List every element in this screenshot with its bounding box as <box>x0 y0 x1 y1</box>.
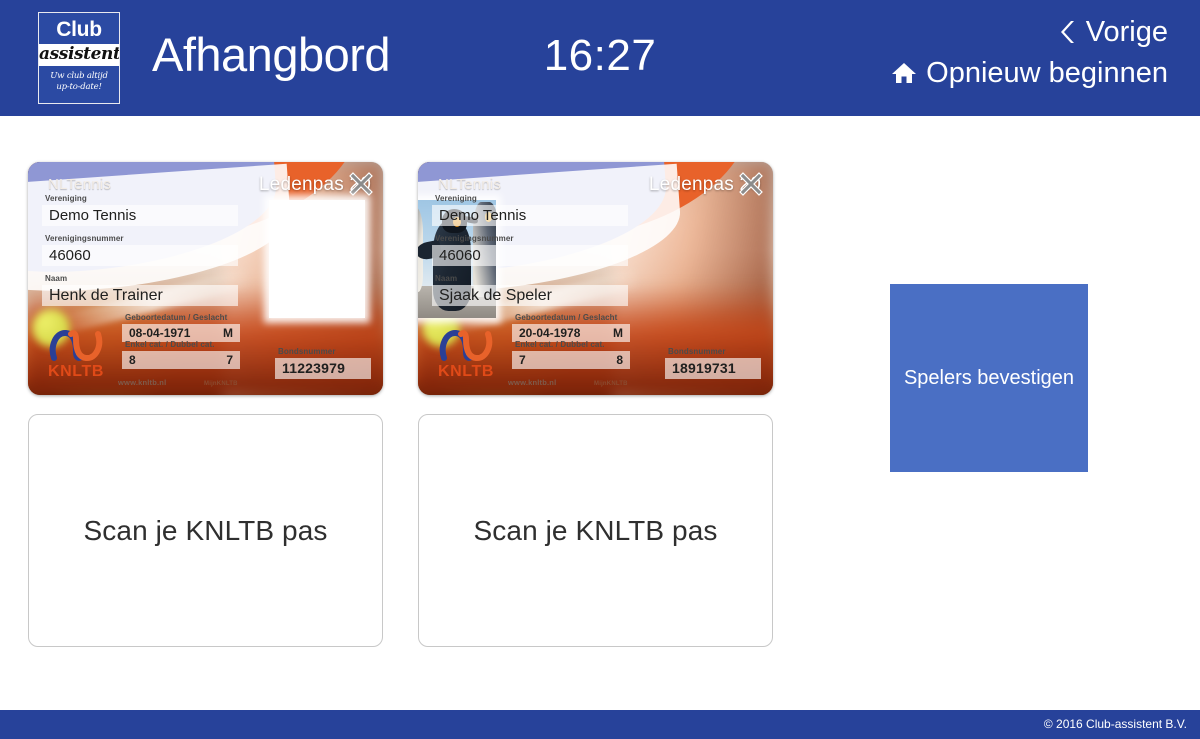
player-card[interactable]: NLTennis Ledenpas 20 Vereniging Demo Ten… <box>28 162 383 395</box>
field-naam-label: Naam <box>42 274 238 284</box>
mijn-knltb-label: MijnKNLTB <box>594 381 628 388</box>
copyright-text: © 2016 Club-assistent B.V. <box>1044 716 1187 732</box>
field-categorie: Enkel cat. / Dubbel cat. 7 8 <box>512 340 630 369</box>
scan-pass-label: Scan je KNLTB pas <box>84 515 328 547</box>
field-categorie: Enkel cat. / Dubbel cat. 8 7 <box>122 340 240 369</box>
field-verenigingsnummer: Verenigingsnummer 46060 <box>42 234 238 266</box>
card-url-text: www.knltb.nl <box>118 378 166 387</box>
field-vereniging-value: Demo Tennis <box>432 205 628 226</box>
back-button[interactable]: Vorige <box>891 14 1168 50</box>
field-geboortedatum-value: 08-04-1971 <box>129 325 190 341</box>
field-vereniging: Vereniging Demo Tennis <box>42 194 238 226</box>
field-vereniging-label: Vereniging <box>42 194 238 204</box>
player-card[interactable]: NLTennis Ledenpas 20 <box>418 162 773 395</box>
field-verenigingsnummer-label: Verenigingsnummer <box>432 234 628 244</box>
field-naam: Naam Henk de Trainer <box>42 274 238 306</box>
field-naam-value: Henk de Trainer <box>42 285 238 306</box>
field-vereniging-label: Vereniging <box>432 194 628 204</box>
card-brand-label: NLTennis <box>438 176 501 193</box>
app-header: Club assistent Uw club altijd up-to-date… <box>0 0 1200 116</box>
scan-pass-box[interactable]: Scan je KNLTB pas <box>418 414 773 647</box>
card-brand-label: NLTennis <box>48 176 111 193</box>
field-dubbel-cat-value: 8 <box>616 352 623 368</box>
knltb-logo-text: KNLTB <box>432 363 500 381</box>
knltb-logo: KNLTB <box>42 328 110 381</box>
field-bondsnummer: Bondsnummer 11223979 <box>275 347 371 379</box>
field-bondsnummer-value: 18919731 <box>665 358 761 379</box>
knltb-swirl-icon <box>438 328 494 362</box>
close-x-icon[interactable] <box>343 166 379 202</box>
member-photo-placeholder <box>269 200 365 318</box>
field-naam-value: Sjaak de Speler <box>432 285 628 306</box>
confirm-players-button[interactable]: Spelers bevestigen <box>890 284 1088 472</box>
field-vereniging: Vereniging Demo Tennis <box>432 194 628 226</box>
field-bondsnummer: Bondsnummer 18919731 <box>665 347 761 379</box>
field-geslacht-value: M <box>613 325 623 341</box>
field-enkel-cat-value: 8 <box>129 352 136 368</box>
field-geboortedatum-geslacht: Geboortedatum / Geslacht 08-04-1971 M <box>122 313 240 342</box>
field-geboortedatum-label: Geboortedatum / Geslacht <box>512 313 630 323</box>
knltb-logo-text: KNLTB <box>42 363 110 381</box>
field-enkel-cat-value: 7 <box>519 352 526 368</box>
back-button-label: Vorige <box>1086 14 1168 50</box>
scan-pass-box[interactable]: Scan je KNLTB pas <box>28 414 383 647</box>
field-geboortedatum-value: 20-04-1978 <box>519 325 580 341</box>
chevron-left-icon <box>1059 19 1077 45</box>
header-actions: Vorige Opnieuw beginnen <box>891 14 1168 91</box>
field-naam-label: Naam <box>432 274 628 284</box>
field-geboortedatum-label: Geboortedatum / Geslacht <box>122 313 240 323</box>
card-url-text: www.knltb.nl <box>508 378 556 387</box>
scan-pass-label: Scan je KNLTB pas <box>474 515 718 547</box>
afhangbord-app: Club assistent Uw club altijd up-to-date… <box>0 0 1200 739</box>
field-categorie-label: Enkel cat. / Dubbel cat. <box>512 340 630 350</box>
field-dubbel-cat-value: 7 <box>226 352 233 368</box>
field-vereniging-value: Demo Tennis <box>42 205 238 226</box>
knltb-logo: KNLTB <box>432 328 500 381</box>
field-geboortedatum-geslacht: Geboortedatum / Geslacht 20-04-1978 M <box>512 313 630 342</box>
home-icon <box>891 61 917 85</box>
field-naam: Naam Sjaak de Speler <box>432 274 628 306</box>
field-bondsnummer-label: Bondsnummer <box>665 347 761 357</box>
close-x-icon[interactable] <box>733 166 769 202</box>
field-categorie-label: Enkel cat. / Dubbel cat. <box>122 340 240 350</box>
field-verenigingsnummer-value: 46060 <box>432 245 628 266</box>
restart-button[interactable]: Opnieuw beginnen <box>891 55 1168 91</box>
field-verenigingsnummer-value: 46060 <box>42 245 238 266</box>
restart-button-label: Opnieuw beginnen <box>926 55 1168 91</box>
field-bondsnummer-value: 11223979 <box>275 358 371 379</box>
logo-tagline-line2: up-to-date! <box>50 82 107 93</box>
field-verenigingsnummer: Verenigingsnummer 46060 <box>432 234 628 266</box>
field-verenigingsnummer-label: Verenigingsnummer <box>42 234 238 244</box>
knltb-swirl-icon <box>48 328 104 362</box>
field-geslacht-value: M <box>223 325 233 341</box>
mijn-knltb-label: MijnKNLTB <box>204 381 238 388</box>
main-content: NLTennis Ledenpas 20 Vereniging Demo Ten… <box>0 116 1200 710</box>
app-footer: © 2016 Club-assistent B.V. <box>0 710 1200 739</box>
field-bondsnummer-label: Bondsnummer <box>275 347 371 357</box>
